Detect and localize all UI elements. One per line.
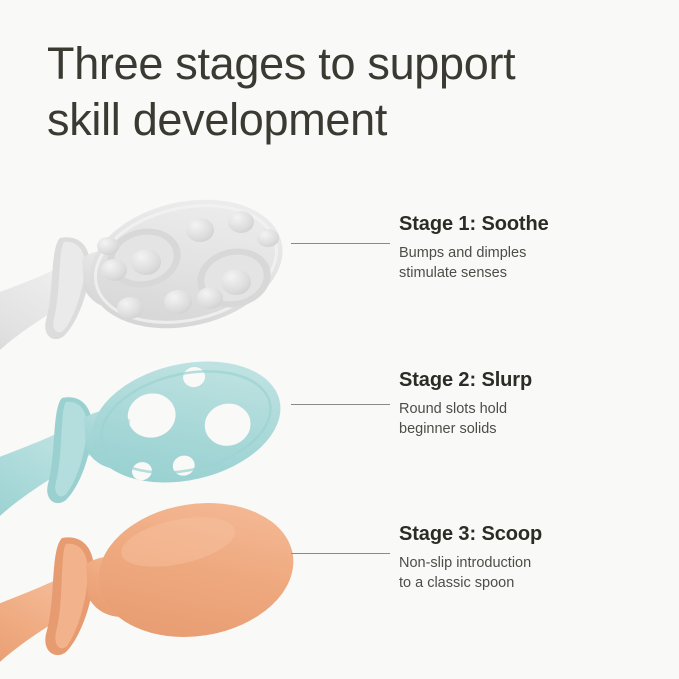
stage-3-description: Non-slip introduction to a classic spoon (399, 553, 659, 593)
product-stage-3-orange-spoon (0, 498, 318, 679)
stage-3-title: Stage 3: Scoop (399, 522, 659, 546)
stage-1-callout: Stage 1: Soothe Bumps and dimples stimul… (399, 212, 659, 283)
page-title: Three stages to support skill developmen… (47, 36, 607, 148)
stage-1-title: Stage 1: Soothe (399, 212, 659, 236)
leader-line-stage-2 (291, 404, 390, 405)
leader-line-stage-3 (291, 553, 390, 554)
stage-2-title: Stage 2: Slurp (399, 368, 659, 392)
stage-3-callout: Stage 3: Scoop Non-slip introduction to … (399, 522, 659, 593)
stage-2-description: Round slots hold beginner solids (399, 399, 659, 439)
product-infographic: Three stages to support skill developmen… (0, 0, 679, 679)
leader-line-stage-1 (291, 243, 390, 244)
stage-1-description: Bumps and dimples stimulate senses (399, 243, 659, 283)
product-stage-1-gray-teether (0, 186, 318, 366)
stage-2-callout: Stage 2: Slurp Round slots hold beginner… (399, 368, 659, 439)
